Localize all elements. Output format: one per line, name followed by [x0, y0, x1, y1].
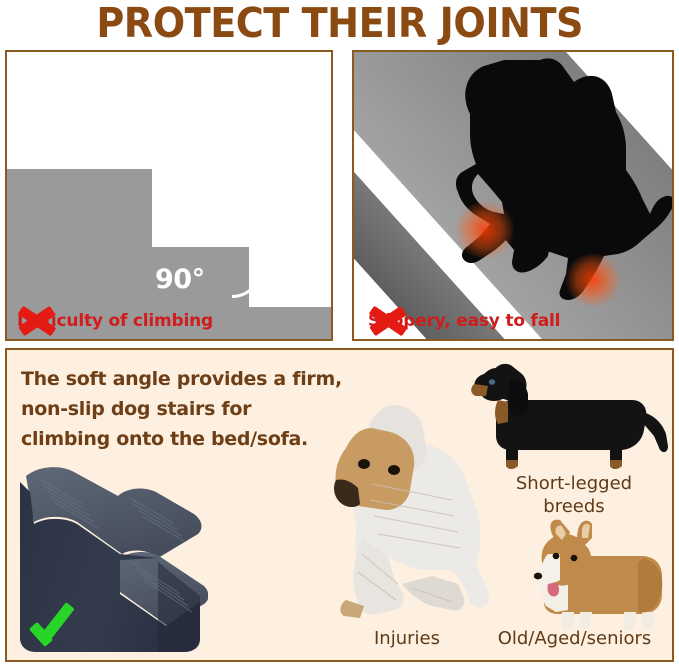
description-line-1: The soft angle provides a firm, — [21, 364, 342, 394]
dog-silhouette-icon — [354, 52, 672, 339]
warning-row-slippery: Slippery, easy to fall — [368, 311, 560, 331]
caption-old-aged-seniors: Old/Aged/seniors — [472, 627, 674, 650]
dog-in-recovery-suit-photo — [302, 388, 492, 623]
stair-block-lower — [249, 307, 333, 341]
caption-injuries: Injuries — [342, 627, 472, 650]
description-line-3: climbing onto the bed/sofa. — [21, 424, 342, 454]
caption-short-legged-breeds: Short-legged breeds — [494, 472, 654, 518]
slippery-ramp-illustration — [354, 52, 672, 339]
red-x-icon — [368, 304, 408, 338]
green-check-icon — [31, 600, 77, 644]
warning-row-difficulty: Difficulty of climbing — [17, 311, 213, 331]
solution-description: The soft angle provides a firm, non-slip… — [21, 364, 342, 454]
panel-slippery-easy-to-fall: Slippery, easy to fall — [352, 50, 674, 341]
page-header: PROTECT THEIR JOINTS — [0, 0, 679, 46]
description-line-2: non-slip dog stairs for — [21, 394, 342, 424]
red-x-icon — [17, 304, 57, 338]
panel-solution: The soft angle provides a firm, non-slip… — [5, 348, 674, 662]
angle-label: 90° — [155, 264, 205, 295]
page-title: PROTECT THEIR JOINTS — [96, 3, 583, 44]
corgi-photo — [512, 518, 674, 633]
dachshund-photo — [470, 360, 670, 470]
panel-difficulty-of-climbing: 90° Difficulty of climbing — [5, 50, 333, 341]
